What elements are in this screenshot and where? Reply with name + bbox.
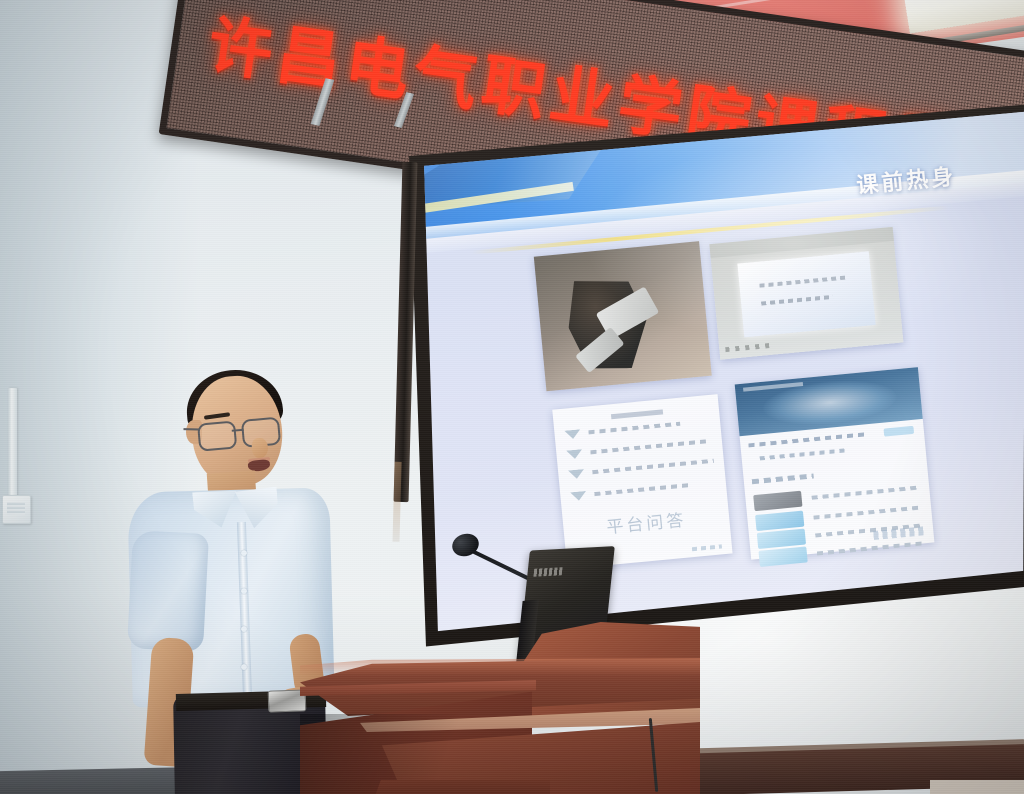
- slide-panel-webpage: [735, 367, 935, 560]
- video-player-controls[interactable]: [725, 343, 769, 352]
- document-footer-text: [692, 544, 722, 551]
- projection-screen: 课前热身: [404, 104, 1024, 652]
- document-title-line: [611, 409, 663, 419]
- webpage-hero-banner: [735, 367, 923, 436]
- document-text-line: [594, 483, 692, 496]
- projected-slide-surface: 课前热身: [404, 104, 1024, 652]
- webpage-list-heading: [752, 473, 814, 484]
- list-item-text: [811, 486, 919, 500]
- slide-panel-document: 平台问答: [552, 394, 732, 569]
- video-player-viewport: [737, 251, 875, 337]
- lectern-podium: [300, 622, 700, 794]
- webpage-action-button[interactable]: [884, 426, 915, 437]
- laptop-brand-logo: [533, 567, 562, 576]
- document-text-line: [588, 422, 680, 435]
- wall-switch-box-left[interactable]: [2, 495, 31, 524]
- wall-conduit-pipe: [8, 388, 17, 498]
- document-bullet-arrow: [570, 491, 587, 501]
- shirt-button: [241, 588, 247, 594]
- podium-top-highlight: [300, 658, 700, 676]
- presenter-sleeve: [127, 530, 209, 652]
- presentation-slide: 课前热身: [404, 104, 1024, 652]
- floor-strip: [930, 780, 1024, 794]
- webpage-nav-line: [743, 382, 803, 392]
- webpage-section-heading: [748, 432, 868, 447]
- list-item-thumbnail: [758, 546, 807, 566]
- document-text-line: [590, 439, 706, 454]
- podium-base-column: [370, 780, 550, 794]
- list-item-thumbnail: [755, 511, 804, 531]
- classroom-photo-scene: 许昌电气职业学院课程思政教学大赛 课前热身: [0, 0, 1024, 794]
- shirt-button: [241, 626, 247, 632]
- glasses-lens-left: [197, 420, 237, 451]
- document-caption: 平台问答: [562, 502, 730, 543]
- list-item-text: [813, 505, 921, 519]
- glasses-temple: [183, 428, 199, 430]
- document-text-line: [592, 459, 714, 474]
- list-item-thumbnail: [753, 491, 802, 511]
- document-bullet-arrow: [564, 429, 581, 439]
- list-item-text: [817, 541, 925, 555]
- slide-panel-video-player: [709, 227, 903, 360]
- list-item-thumbnail: [757, 529, 806, 549]
- shirt-button: [241, 550, 247, 556]
- document-bullet-arrow: [568, 469, 585, 479]
- shirt-button: [241, 664, 247, 670]
- document-bullet-arrow: [566, 449, 583, 459]
- webpage-subheading: [760, 448, 846, 460]
- slide-panel-photo: [534, 241, 712, 391]
